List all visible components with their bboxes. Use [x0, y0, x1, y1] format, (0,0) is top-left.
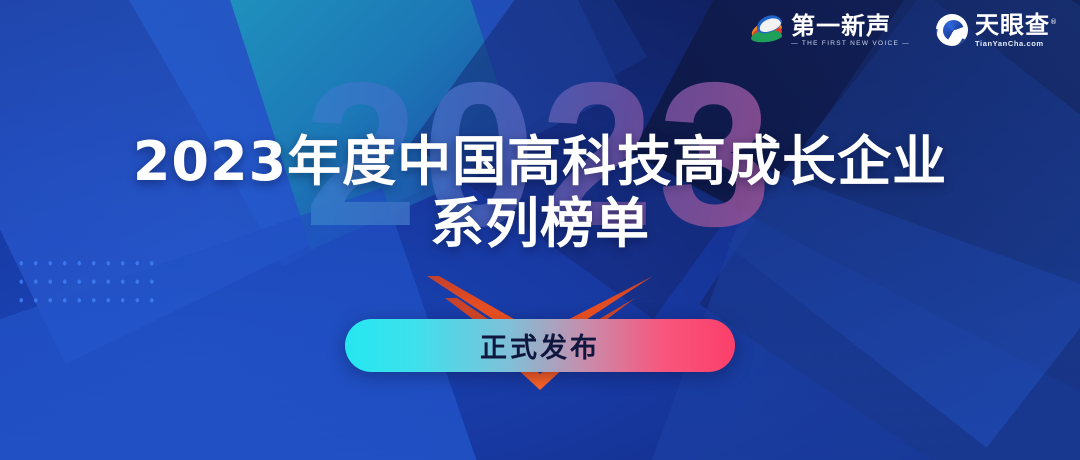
- first-new-voice-tagline: — THE FIRST NEW VOICE —: [791, 41, 910, 48]
- tianyancha-eye-icon: [936, 14, 968, 46]
- banner-title: 2023年度中国高科技高成长企业 系列榜单: [0, 131, 1080, 255]
- first-new-voice-name-cn: 第一新声: [791, 14, 910, 38]
- dot-grid-pattern: [12, 252, 154, 312]
- logo-first-new-voice[interactable]: 第一新声 — THE FIRST NEW VOICE —: [750, 13, 910, 47]
- tianyancha-name-text: 天眼查: [975, 11, 1050, 39]
- tianyancha-wordmark: 天眼查® TianYanCha.com: [975, 13, 1058, 48]
- promo-banner: 2023 第一新声 — THE FIRST NEW VOICE — 天眼查®: [0, 0, 1080, 460]
- logo-bar: 第一新声 — THE FIRST NEW VOICE — 天眼查® TianYa…: [750, 13, 1058, 48]
- first-new-voice-wordmark: 第一新声 — THE FIRST NEW VOICE —: [791, 14, 910, 48]
- tianyancha-domain: TianYanCha.com: [975, 40, 1058, 48]
- release-cta-label: 正式发布: [480, 326, 600, 365]
- trademark-symbol: ®: [1050, 18, 1058, 26]
- title-line-2: 系列榜单: [0, 193, 1080, 255]
- tianyancha-name-cn: 天眼查®: [975, 13, 1058, 37]
- title-line-1: 2023年度中国高科技高成长企业: [0, 131, 1080, 193]
- logo-tianyancha[interactable]: 天眼查® TianYanCha.com: [936, 13, 1058, 48]
- first-new-voice-mark-icon: [750, 13, 784, 47]
- release-cta-button[interactable]: 正式发布: [345, 319, 735, 372]
